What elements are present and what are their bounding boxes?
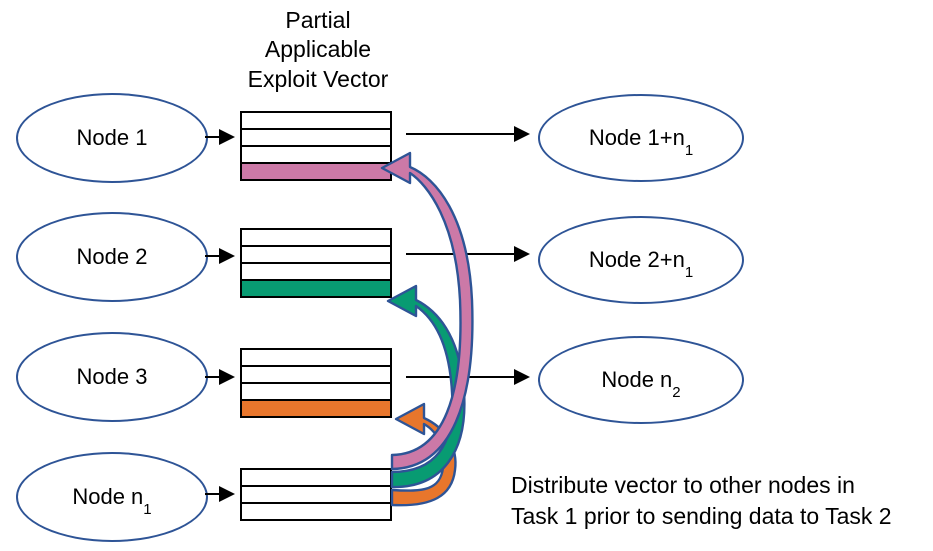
vector-node-2[interactable]: [240, 228, 392, 298]
vector-node-3-row-3: [242, 384, 390, 401]
orange-distribution-arrow: [392, 404, 455, 505]
source-node-2[interactable]: Node 2: [16, 212, 208, 302]
vector-node-n1-row-2: [242, 487, 390, 504]
vector-node-1-row-1: [242, 113, 390, 130]
target-node-1-plus-n1-subscript: 1: [685, 142, 693, 159]
source-node-1-label: Node 1: [77, 125, 148, 151]
target-node-2-plus-n1-subscript: 1: [685, 264, 693, 281]
vector-node-1[interactable]: [240, 111, 392, 181]
source-node-n1-label: Node n1: [72, 484, 151, 510]
vector-node-n1-row-3: [242, 504, 390, 519]
source-node-3-label: Node 3: [77, 364, 148, 390]
vector-node-n1[interactable]: [240, 468, 392, 521]
distribution-note: Distribute vector to other nodes in Task…: [511, 470, 892, 532]
vector-caption-line-2: Applicable: [228, 35, 408, 64]
vector-node-2-row-2: [242, 247, 390, 264]
vector-caption-line-1: Partial: [228, 6, 408, 35]
vector-node-1-row-2: [242, 130, 390, 147]
vector-node-1-row-3: [242, 147, 390, 164]
source-node-3[interactable]: Node 3: [16, 332, 208, 422]
source-node-1[interactable]: Node 1: [16, 93, 208, 183]
vector-node-3[interactable]: [240, 348, 392, 418]
vector-node-3-row-2: [242, 367, 390, 384]
distribution-note-line-2: Task 1 prior to sending data to Task 2: [511, 501, 892, 532]
target-node-1-plus-n1[interactable]: Node 1+n1: [538, 94, 744, 182]
target-node-2-plus-n1[interactable]: Node 2+n1: [538, 216, 744, 304]
vector-node-1-row-4-pink-band: [242, 164, 390, 179]
vector-caption-line-3: Exploit Vector: [228, 65, 408, 94]
vector-node-2-row-1: [242, 230, 390, 247]
source-node-n1-subscript: 1: [143, 501, 151, 518]
diagram-canvas: Partial Applicable Exploit Vector Node 1…: [0, 0, 933, 551]
vector-node-3-row-4-orange-band: [242, 401, 390, 416]
source-node-2-label: Node 2: [77, 244, 148, 270]
target-node-1-plus-n1-label: Node 1+n1: [589, 125, 693, 151]
distribution-note-line-1: Distribute vector to other nodes in: [511, 470, 892, 501]
target-node-n2[interactable]: Node n2: [538, 336, 744, 424]
vector-node-n1-row-1: [242, 470, 390, 487]
source-node-n1[interactable]: Node n1: [16, 452, 208, 542]
vector-node-2-row-4-green-band: [242, 281, 390, 296]
pink-distribution-arrow: [382, 153, 472, 469]
vector-node-2-row-3: [242, 264, 390, 281]
target-node-n2-label: Node n2: [601, 367, 680, 393]
target-node-2-plus-n1-label: Node 2+n1: [589, 247, 693, 273]
vector-node-3-row-1: [242, 350, 390, 367]
green-distribution-arrow: [388, 286, 464, 487]
target-node-n2-subscript: 2: [672, 384, 680, 401]
vector-caption: Partial Applicable Exploit Vector: [228, 6, 408, 94]
